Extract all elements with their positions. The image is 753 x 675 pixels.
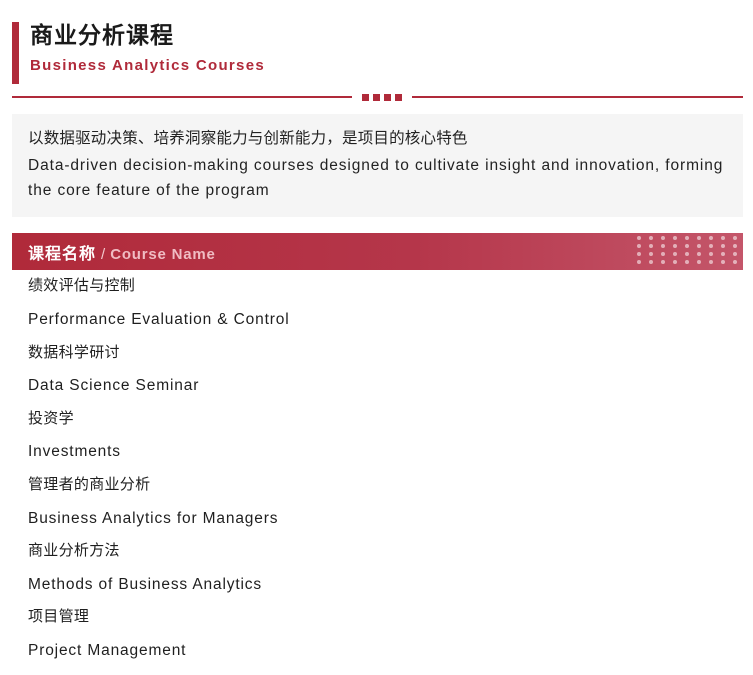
divider-dots — [352, 94, 412, 101]
divider-dot-2 — [373, 94, 380, 101]
course-row: Project Management — [12, 634, 743, 667]
dot-pattern-decoration — [633, 233, 743, 270]
course-table-header: 课程名称/Course Name — [12, 233, 743, 270]
accent-bar — [12, 22, 19, 84]
column-header-en: Course Name — [110, 246, 216, 263]
course-row: 商业分析方法 — [12, 535, 743, 568]
intro-text-en: Data-driven decision-making courses desi… — [28, 153, 727, 203]
course-row: 投资学 — [12, 403, 743, 436]
course-row: Investments — [12, 435, 743, 468]
course-list: 绩效评估与控制 Performance Evaluation & Control… — [12, 270, 743, 667]
divider-line-right — [412, 96, 743, 98]
section-divider — [12, 90, 743, 104]
intro-box: 以数据驱动决策、培养洞察能力与创新能力，是项目的核心特色 Data-driven… — [12, 114, 743, 217]
page-header: 商业分析课程 Business Analytics Courses — [12, 12, 743, 76]
course-table-header-text: 课程名称/Course Name — [12, 240, 216, 264]
page-title-en: Business Analytics Courses — [30, 55, 743, 76]
intro-text-cn: 以数据驱动决策、培养洞察能力与创新能力，是项目的核心特色 — [28, 126, 727, 151]
divider-dot-4 — [395, 94, 402, 101]
divider-dot-3 — [384, 94, 391, 101]
course-row: 管理者的商业分析 — [12, 469, 743, 502]
page-title-cn: 商业分析课程 — [30, 20, 743, 51]
course-row: Methods of Business Analytics — [12, 568, 743, 601]
course-row: Data Science Seminar — [12, 369, 743, 402]
column-header-separator: / — [96, 246, 110, 263]
course-row: Performance Evaluation & Control — [12, 303, 743, 336]
course-row: Business Analytics for Managers — [12, 502, 743, 535]
page-root: 商业分析课程 Business Analytics Courses 以数据驱动决… — [0, 12, 753, 675]
column-header-cn: 课程名称 — [28, 246, 96, 263]
divider-line-left — [12, 96, 352, 98]
course-row: 项目管理 — [12, 601, 743, 634]
divider-dot-1 — [362, 94, 369, 101]
course-row: 数据科学研讨 — [12, 337, 743, 370]
course-row: 绩效评估与控制 — [12, 270, 743, 303]
